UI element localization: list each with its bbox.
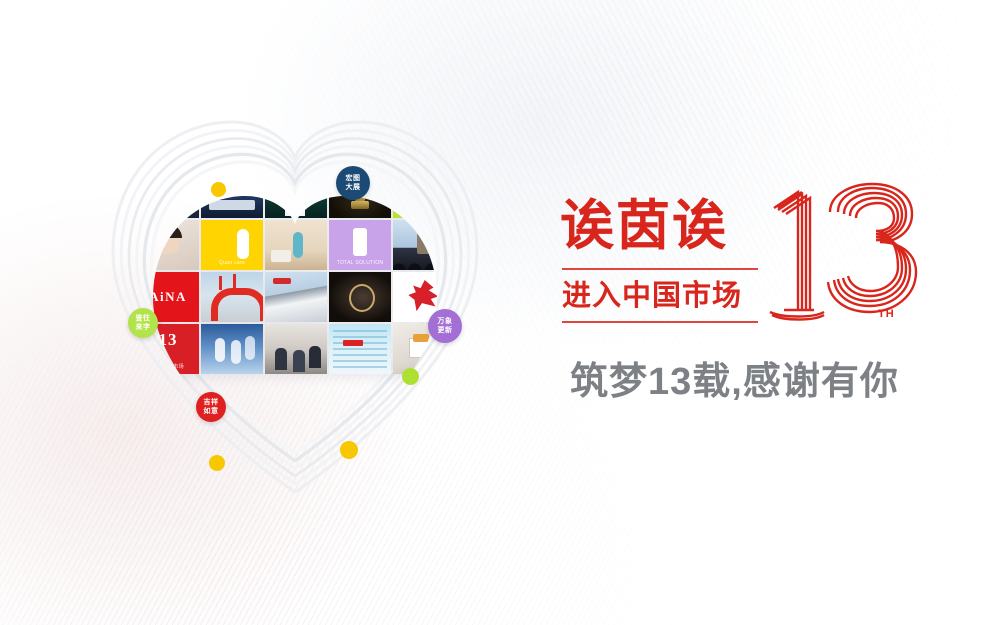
dot-yellow-bottom-left [209, 455, 225, 471]
dot-green-right [402, 368, 419, 385]
logo-row: 诶茵诶 进入中国市场 [560, 190, 980, 330]
anniversary-number-13 [760, 182, 920, 332]
logo-primary-text: 诶茵诶 [560, 196, 728, 256]
badge-jixiangruyi-line1: 吉祥 [204, 398, 219, 407]
tile-product-yellow-caption: Quan care [201, 260, 263, 266]
dot-yellow-top [211, 182, 226, 197]
badge-wanxianggengxin-line2: 更新 [438, 326, 453, 335]
badge-wanxianggengxin-line1: 万象 [438, 317, 453, 326]
tile-ice-stage-show [201, 324, 263, 374]
tagline-text: 筑梦13载,感谢有你 [570, 350, 899, 405]
poster-canvas: Quan careTOTAL SOLUTIONAiNA13进入中国市场 宏图大展… [0, 0, 1000, 625]
logo-secondary-text: 进入中国市场 [562, 274, 742, 318]
tile-expo-booth [265, 324, 327, 374]
tile-flagship-store [265, 272, 327, 322]
tile-wellness-room [265, 220, 327, 270]
tile-product-purple: TOTAL SOLUTION [329, 220, 391, 270]
dot-yellow-bottom-right [340, 441, 358, 459]
badge-hongtudazhan-line1: 宏图 [346, 174, 361, 183]
logo-divider-bottom [562, 321, 758, 323]
badge-hongtudazhan: 宏图大展 [336, 166, 370, 200]
badge-wanxianggengxin: 万象更新 [428, 309, 462, 343]
badge-jianwangzhilai-line1: 鉴往 [136, 314, 151, 323]
brand-lockup: 诶茵诶 进入中国市场 [560, 190, 980, 330]
logo-divider-top [562, 268, 758, 270]
tile-glass-building [329, 324, 391, 374]
badge-jixiangruyi-line2: 如意 [204, 407, 219, 416]
tile-product-purple-caption: TOTAL SOLUTION [329, 260, 391, 266]
tile-dark-award [329, 272, 391, 322]
badge-jixiangruyi: 吉祥如意 [196, 392, 226, 422]
tile-red-arch-event [201, 272, 263, 322]
tile-product-yellow: Quan care [201, 220, 263, 270]
badge-hongtudazhan-line2: 大展 [346, 183, 361, 192]
badge-jianwangzhilai: 鉴往来字 [128, 308, 158, 338]
badge-jianwangzhilai-line2: 来字 [136, 323, 151, 332]
anniversary-suffix: TH [878, 308, 895, 320]
